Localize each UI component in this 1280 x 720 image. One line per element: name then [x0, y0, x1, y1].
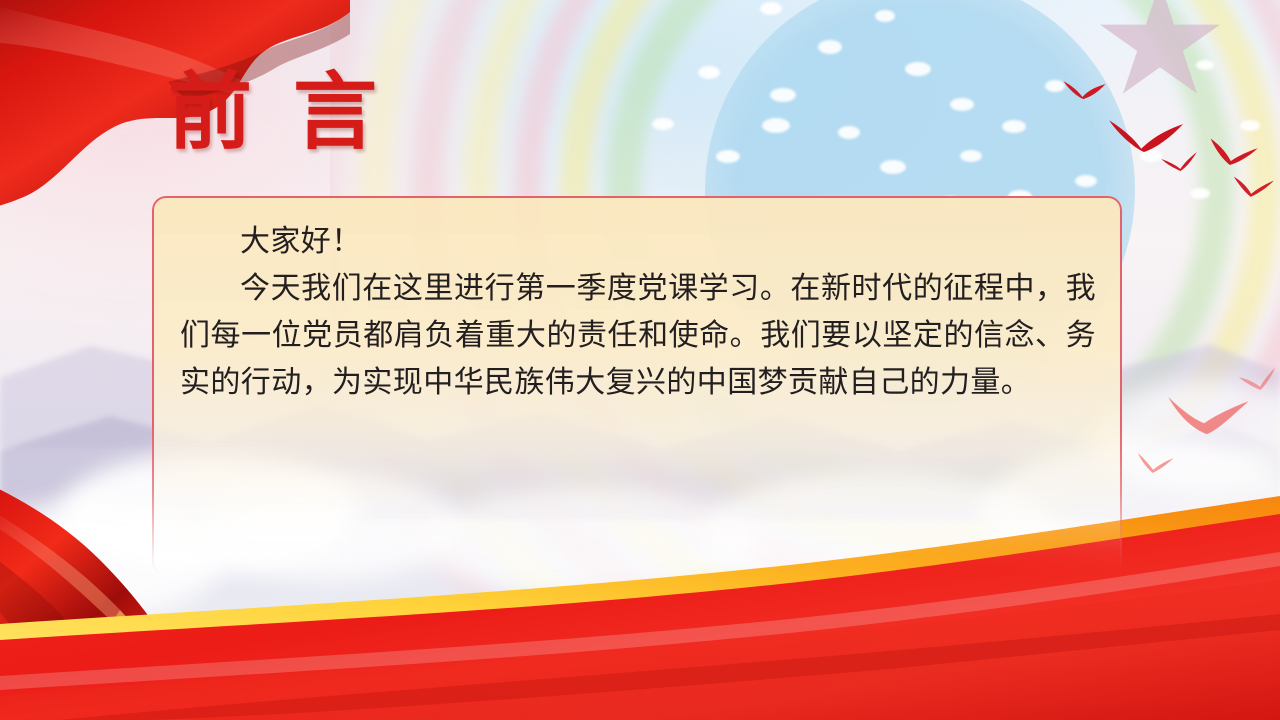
dove-icon	[1159, 150, 1201, 180]
paragraph-greeting: 大家好！	[180, 218, 1096, 265]
page-title: 前 言	[168, 72, 387, 156]
paragraph-body: 今天我们在这里进行第一季度党课学习。在新时代的征程中，我们每一位党员都肩负着重大…	[180, 265, 1096, 406]
slide-canvas: 前 言 大家好！ 今天我们在这里进行第一季度党课学习。在新时代的征程中，我们每一…	[0, 0, 1280, 720]
dove-icon	[1058, 75, 1108, 111]
content-card-text: 大家好！ 今天我们在这里进行第一季度党课学习。在新时代的征程中，我们每一位党员都…	[180, 218, 1096, 406]
